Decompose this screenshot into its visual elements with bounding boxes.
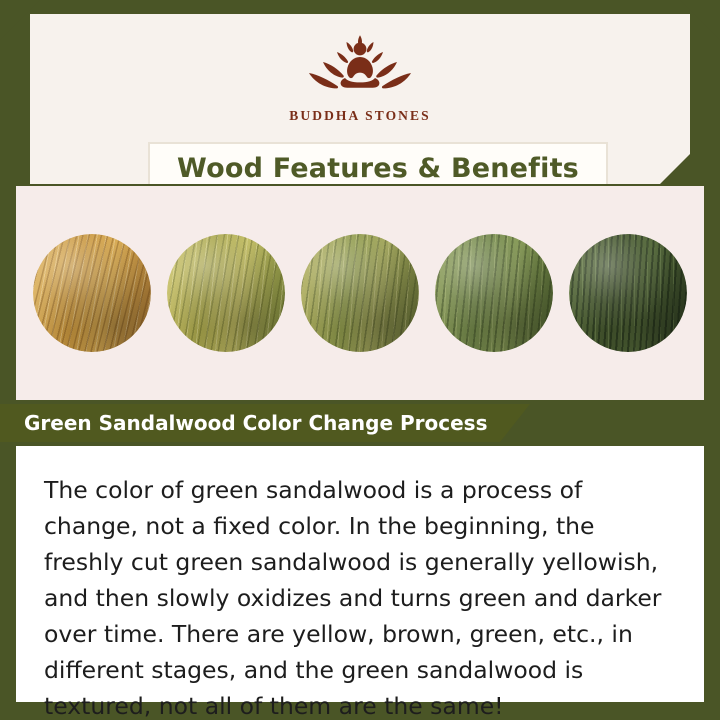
infographic-page: BUDDHA STONES Wood Features & Benefits bbox=[0, 0, 720, 720]
beads-panel bbox=[16, 186, 704, 400]
body-paragraph: The color of green sandalwood is a proce… bbox=[44, 472, 680, 720]
bead-stage-5 bbox=[569, 234, 687, 352]
lotus-meditation-icon bbox=[285, 32, 435, 104]
bead-stage-3 bbox=[301, 234, 419, 352]
bead-shading-1 bbox=[33, 234, 151, 352]
bead-stage-4 bbox=[435, 234, 553, 352]
brand-name: BUDDHA STONES bbox=[289, 108, 430, 124]
body-card: The color of green sandalwood is a proce… bbox=[16, 446, 704, 702]
bead-stage-1 bbox=[33, 234, 151, 352]
section-label-text: Green Sandalwood Color Change Process bbox=[24, 411, 487, 435]
bead-shading-2 bbox=[167, 234, 285, 352]
bead-shading-3 bbox=[301, 234, 419, 352]
page-title: Wood Features & Benefits bbox=[177, 153, 579, 184]
bead-stage-2 bbox=[167, 234, 285, 352]
header-panel: BUDDHA STONES Wood Features & Benefits bbox=[30, 14, 690, 184]
bead-shading-4 bbox=[435, 234, 553, 352]
bead-row bbox=[16, 186, 704, 400]
section-label-banner: Green Sandalwood Color Change Process bbox=[0, 404, 530, 442]
bead-shading-5 bbox=[569, 234, 687, 352]
brand-logo: BUDDHA STONES bbox=[30, 32, 690, 124]
